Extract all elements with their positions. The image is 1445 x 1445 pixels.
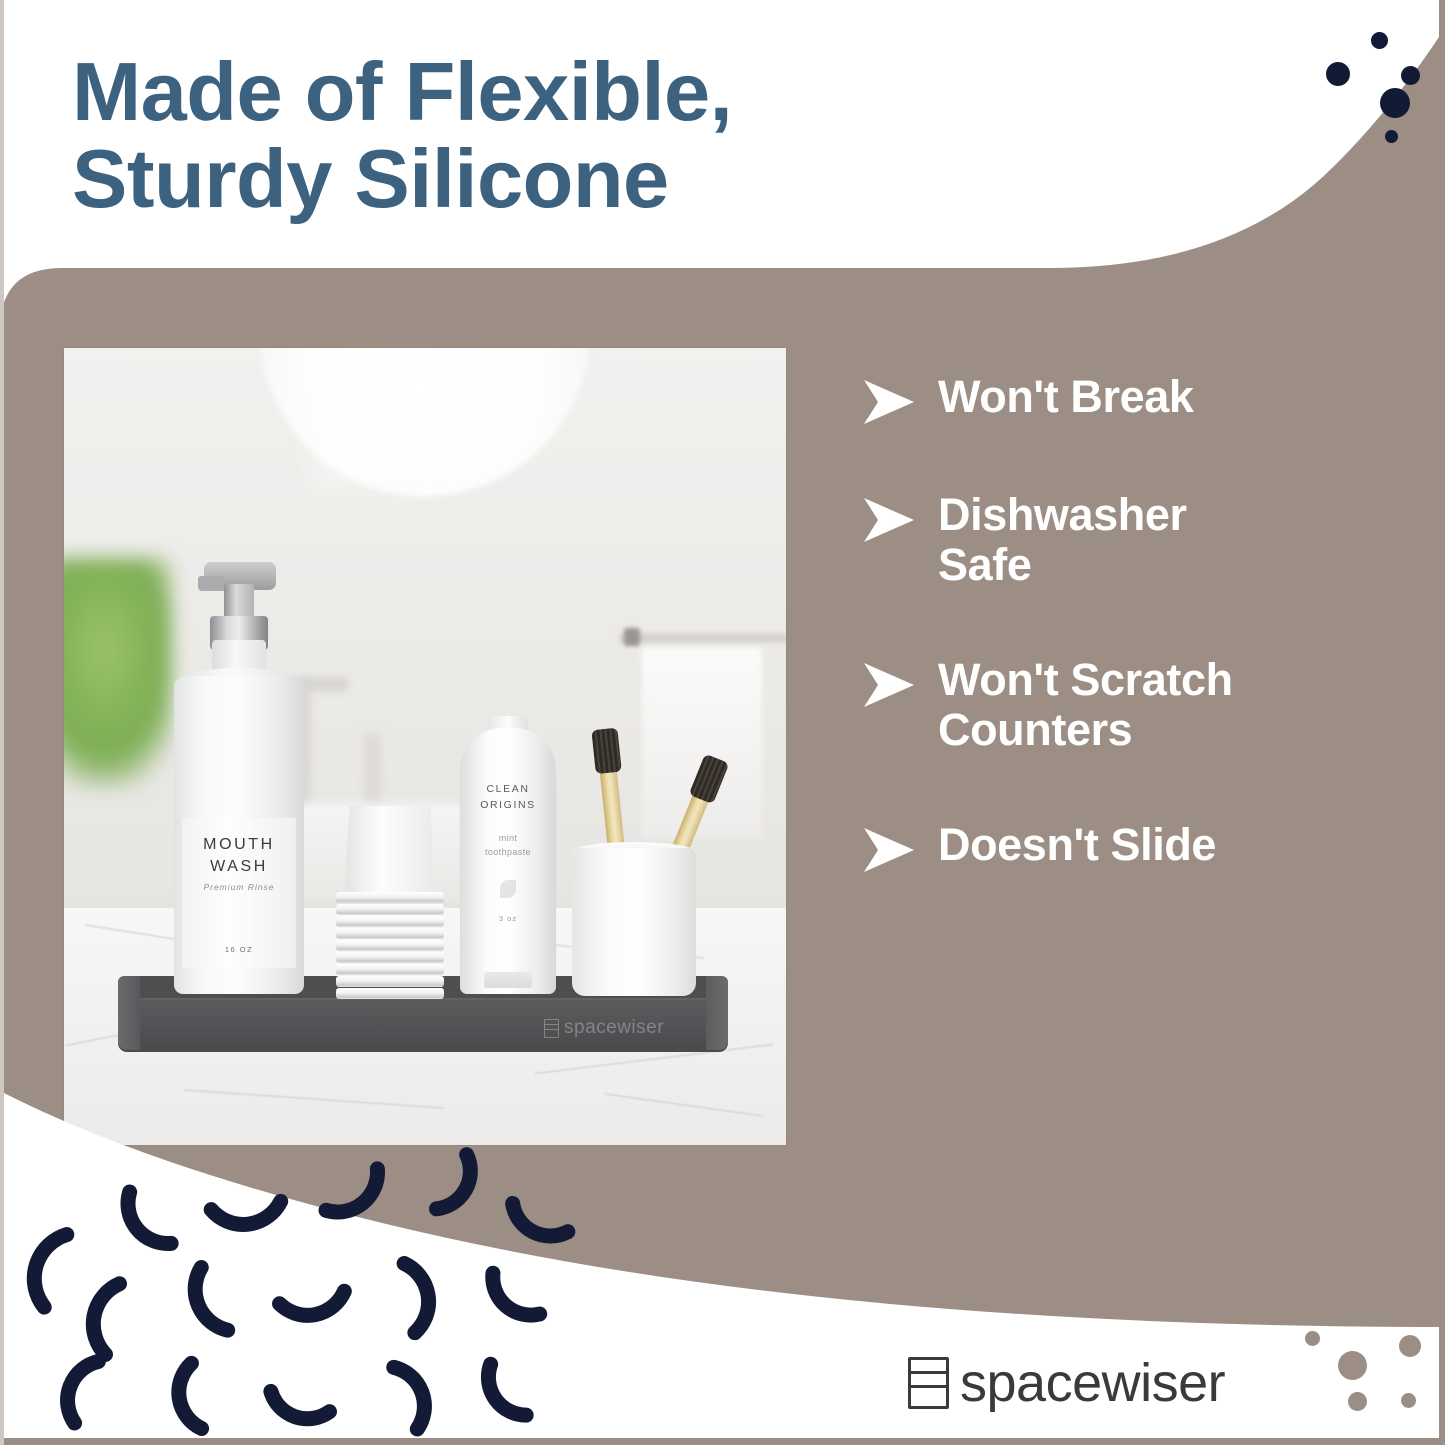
tube-volume: 3 oz: [460, 914, 556, 923]
toothbrush-cup: [572, 848, 696, 996]
tube-brand-line2: ORIGINS: [460, 798, 556, 814]
pump-spout: [198, 576, 224, 591]
feature-label: Won't Break: [938, 372, 1194, 422]
tube-seal: [484, 972, 532, 988]
feature-item: Won't Scratch Counters: [862, 655, 1342, 756]
bottle-title-line1: MOUTH: [203, 834, 275, 856]
arrow-right-icon: [862, 496, 916, 544]
top-cup: [344, 806, 436, 898]
feature-label: Dishwasher Safe: [938, 490, 1268, 591]
infographic-canvas: Made of Flexible, Sturdy Silicone: [0, 0, 1445, 1445]
crescent-brush-pattern-icon: [0, 1115, 640, 1445]
page-title: Made of Flexible, Sturdy Silicone: [72, 48, 732, 222]
feature-list: Won't Break Dishwasher Safe Won't Scratc…: [862, 372, 1342, 874]
arrow-right-icon: [862, 826, 916, 874]
feature-label: Doesn't Slide: [938, 820, 1216, 870]
arrow-right-icon: [862, 661, 916, 709]
green-plant: [64, 558, 172, 788]
bottle-subtitle: Premium Rinse: [203, 882, 274, 892]
shelf-ladder-icon: [908, 1357, 949, 1409]
bottle-volume: 16 OZ: [225, 945, 253, 954]
tube-desc-line2: toothpaste: [460, 846, 556, 860]
feature-label: Won't Scratch Counters: [938, 655, 1318, 756]
bottle-title-line2: WASH: [210, 856, 268, 878]
towel-bar: [620, 634, 786, 642]
feature-item: Won't Break: [862, 372, 1342, 426]
feature-item: Doesn't Slide: [862, 820, 1342, 874]
frame-right: [1439, 0, 1445, 1445]
frame-left: [0, 0, 4, 1445]
leaf-icon: [500, 880, 516, 898]
towel-hook: [624, 628, 640, 646]
arrow-right-icon: [862, 378, 916, 426]
stacked-paper-cups: [336, 806, 444, 996]
brand-logo: spacewiser: [908, 1352, 1225, 1414]
mirror-glow: [314, 348, 444, 488]
tube-body: CLEAN ORIGINS mint toothpaste 3 oz: [460, 728, 556, 994]
tube-desc-line1: mint: [460, 832, 556, 846]
tube-brand-line1: CLEAN: [460, 782, 556, 798]
frame-bottom: [0, 1438, 1445, 1445]
feature-item: Dishwasher Safe: [862, 490, 1342, 591]
bottle-label: MOUTH WASH Premium Rinse 16 OZ: [182, 818, 296, 968]
brand-name: spacewiser: [960, 1352, 1225, 1414]
